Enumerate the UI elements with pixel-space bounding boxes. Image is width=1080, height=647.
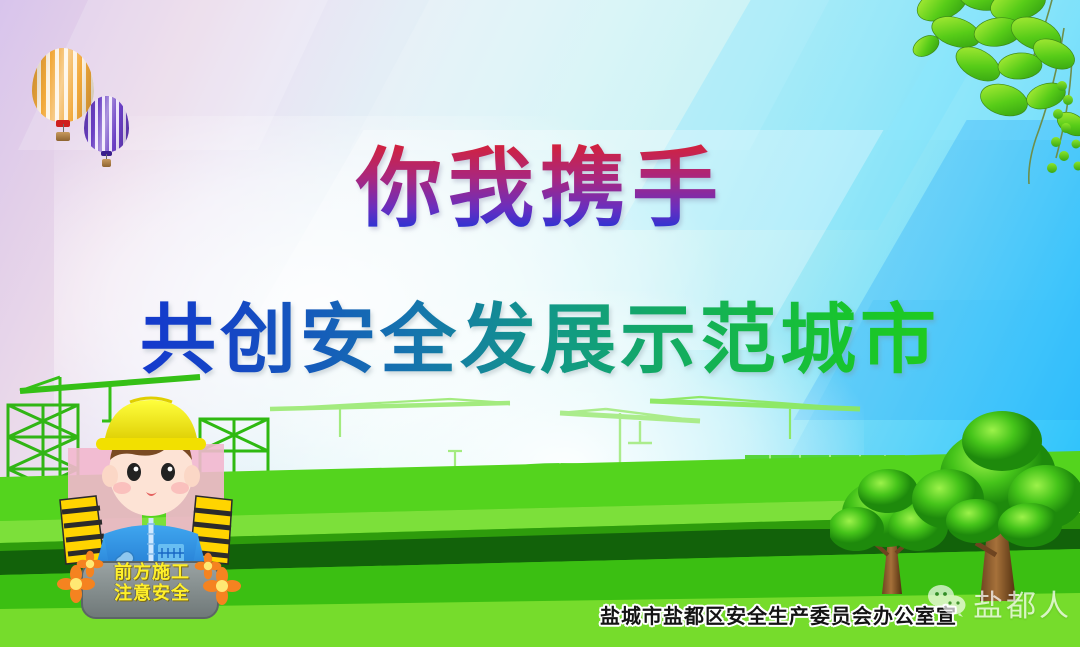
caution-barrier (60, 496, 104, 564)
headline-secondary: 共创安全发展示范城市 (0, 278, 1080, 388)
green-trees-icon (830, 389, 1080, 619)
construction-worker-mascot (46, 388, 256, 623)
headline-primary: 你我携手 (0, 118, 1080, 243)
footer-issuer-text: 盐城市盐都区安全生产委员会办公室宣 (600, 600, 957, 629)
warning-sign-board (82, 562, 218, 618)
safety-poster: 你我携手 共创安全发展示范城市 (0, 0, 1080, 647)
hard-hat-icon (104, 400, 198, 444)
